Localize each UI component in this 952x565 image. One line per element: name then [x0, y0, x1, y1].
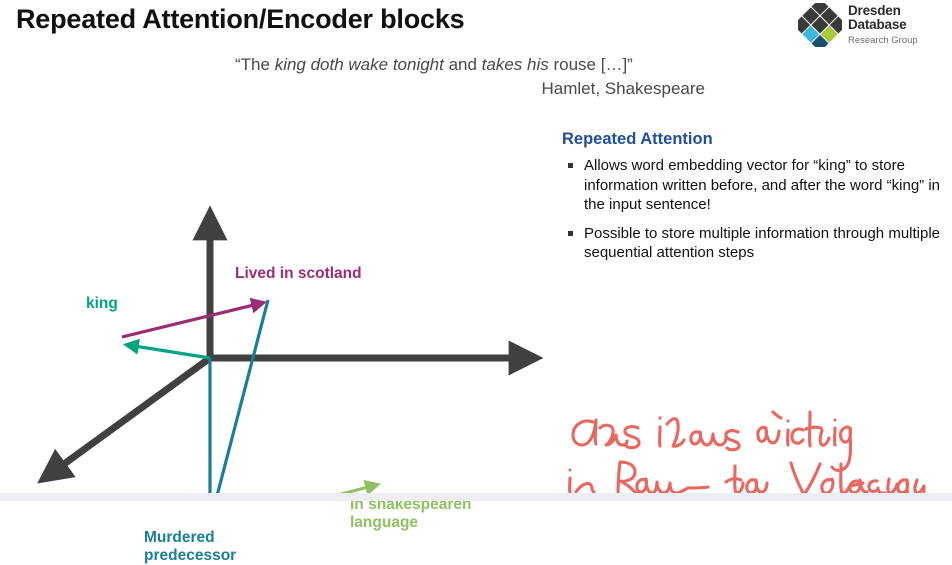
diagram-canvas — [0, 105, 560, 500]
quote-italic-1: king doth wake tonight — [275, 55, 444, 74]
logo-line-2: Database — [848, 18, 948, 32]
vector-lived-in-scotland — [122, 303, 262, 337]
logo-subtitle: Research Group — [848, 34, 948, 47]
quote-end: rouse […]” — [549, 55, 633, 74]
axis-z-depth — [53, 358, 210, 472]
quote-text: “The king doth wake tonight and takes hi… — [235, 53, 705, 77]
bullet-text: Allows word embedding vector for “king” … — [584, 157, 940, 213]
logo-line-1: Dresden — [848, 4, 948, 18]
vector-murdered-predecessor-upper — [212, 300, 268, 500]
logo-wordmark: Dresden Database Research Group — [848, 4, 948, 47]
panel-heading: Repeated Attention — [562, 130, 950, 149]
quote-attribution: Hamlet, Shakespeare — [235, 77, 705, 101]
quote-open: “The — [235, 55, 275, 74]
bullet-item: Allows word embedding vector for “king” … — [562, 156, 950, 215]
bullet-item: Possible to store multiple information t… — [562, 224, 950, 263]
handwritten-annotation — [560, 400, 952, 501]
quote-mid: and — [444, 55, 482, 74]
bottom-strip — [0, 493, 952, 501]
diagram-label-lived-in-scotland: Lived in scotland — [235, 265, 362, 283]
brand-logo: Dresden Database Research Group — [798, 2, 950, 48]
bullet-square-icon — [568, 163, 573, 168]
dresden-database-diamond-logo-icon — [798, 3, 842, 47]
bullet-text: Possible to store multiple information t… — [584, 225, 940, 262]
page-title: Repeated Attention/Encoder blocks — [16, 4, 464, 35]
quote-italic-2: takes his — [482, 55, 549, 74]
diagram-label-king: king — [86, 295, 118, 313]
explanation-panel: Repeated Attention Allows word embedding… — [562, 130, 950, 272]
diagram-label-murdered-predecessor: Murdered predecessor — [144, 529, 236, 565]
vector-king — [128, 345, 210, 358]
quote-block: “The king doth wake tonight and takes hi… — [235, 53, 705, 101]
diagram-label-in-shakespearean-language: In shakespearen language — [350, 496, 471, 532]
bullet-square-icon — [568, 231, 573, 236]
bullet-list: Allows word embedding vector for “king” … — [562, 156, 950, 263]
vector-space-diagram: king Lived in scotland Murdered predeces… — [0, 105, 560, 500]
